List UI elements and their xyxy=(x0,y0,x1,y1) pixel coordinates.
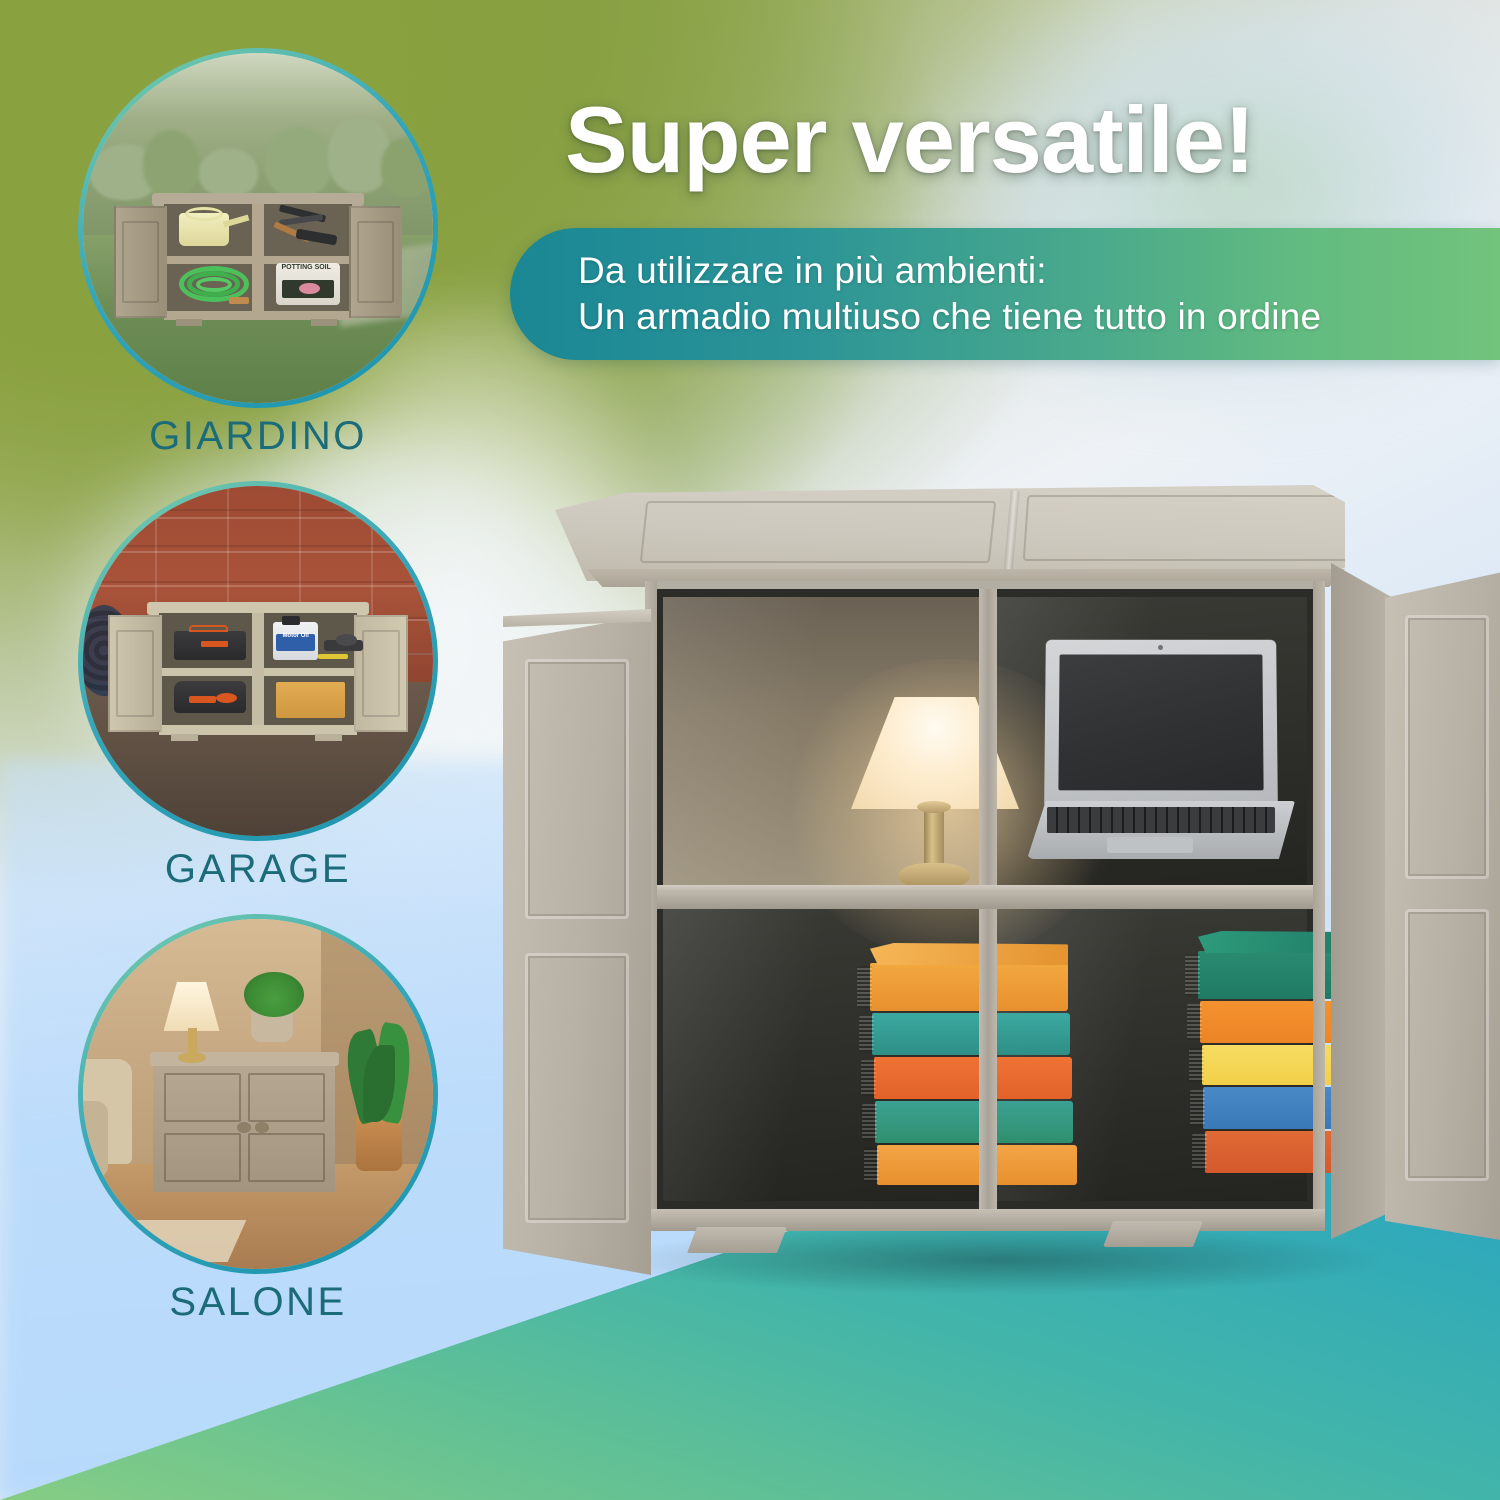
scenario-image-salone xyxy=(78,914,438,1274)
scenario-label-garage: GARAGE xyxy=(58,847,458,892)
product-cabinet xyxy=(495,485,1500,1315)
cabinet-foot-right xyxy=(1103,1221,1203,1247)
banner-line-2: Un armadio multiuso che tiene tutto in o… xyxy=(578,294,1321,340)
cabinet-door-right-inner[interactable] xyxy=(1331,563,1391,1239)
book xyxy=(872,1013,1070,1055)
circle-ring-garage: Motor Oil xyxy=(78,481,438,841)
scenario-giardino[interactable]: POTTING SOIL GIARDINO xyxy=(58,48,458,459)
cabinet-door-right[interactable] xyxy=(1385,571,1500,1241)
motor-oil-label: Motor Oil xyxy=(276,634,315,652)
laptop-keyboard xyxy=(1047,807,1275,833)
book xyxy=(874,1057,1072,1099)
laptop-screen xyxy=(1044,640,1278,806)
cabinet-shelf-edge xyxy=(655,885,1315,892)
cabinet-foot-left xyxy=(687,1227,787,1253)
scenario-label-giardino: GIARDINO xyxy=(58,414,458,459)
scenario-salone[interactable]: SALONE xyxy=(58,914,458,1325)
scenario-garage[interactable]: Motor Oil xyxy=(58,481,458,892)
page-title: Super versatile! xyxy=(565,86,1465,194)
living-room-scene xyxy=(83,919,433,1269)
scenario-image-giardino: POTTING SOIL xyxy=(78,48,438,408)
book xyxy=(875,1101,1073,1143)
scenario-image-garage: Motor Oil xyxy=(78,481,438,841)
garden-scene: POTTING SOIL xyxy=(83,53,433,403)
cabinet-door-left[interactable] xyxy=(503,615,651,1275)
cabinet-body xyxy=(645,581,1325,1231)
circle-ring-salone xyxy=(78,914,438,1274)
usage-scenarios-list: POTTING SOIL GIARDINO xyxy=(58,48,458,1341)
garage-scene: Motor Oil xyxy=(83,486,433,836)
marketing-banner: POTTING SOIL GIARDINO xyxy=(0,0,1500,1500)
scenario-label-salone: SALONE xyxy=(58,1280,458,1325)
lamp-neck xyxy=(924,807,944,869)
potting-soil-label: POTTING SOIL xyxy=(282,266,335,279)
banner-line-1: Da utilizzare in più ambienti: xyxy=(578,248,1321,294)
cabinet-top xyxy=(555,485,1345,581)
subtitle-banner: Da utilizzare in più ambienti: Un armadi… xyxy=(510,228,1500,360)
circle-ring-giardino: POTTING SOIL xyxy=(78,48,438,408)
laptop-trackpad xyxy=(1107,837,1193,853)
book xyxy=(870,963,1068,1011)
book xyxy=(877,1145,1077,1185)
